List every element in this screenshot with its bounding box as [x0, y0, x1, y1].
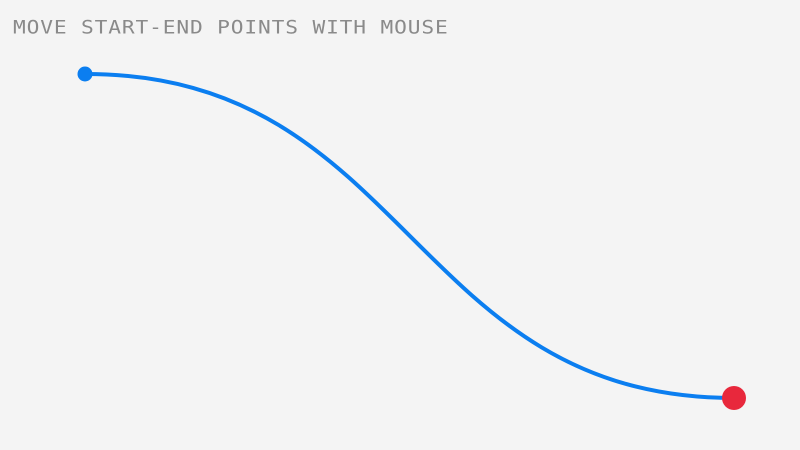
drawing-canvas[interactable]	[0, 0, 800, 450]
bezier-demo-app: MOVE START-END POINTS WITH MOUSE	[0, 0, 800, 450]
page-title: MOVE START-END POINTS WITH MOUSE	[13, 18, 449, 36]
bezier-curve-path	[85, 74, 734, 398]
start-point-drag-target[interactable]	[74, 63, 97, 86]
end-point-drag-target[interactable]	[718, 382, 750, 414]
bezier-curve-canvas	[0, 0, 800, 450]
